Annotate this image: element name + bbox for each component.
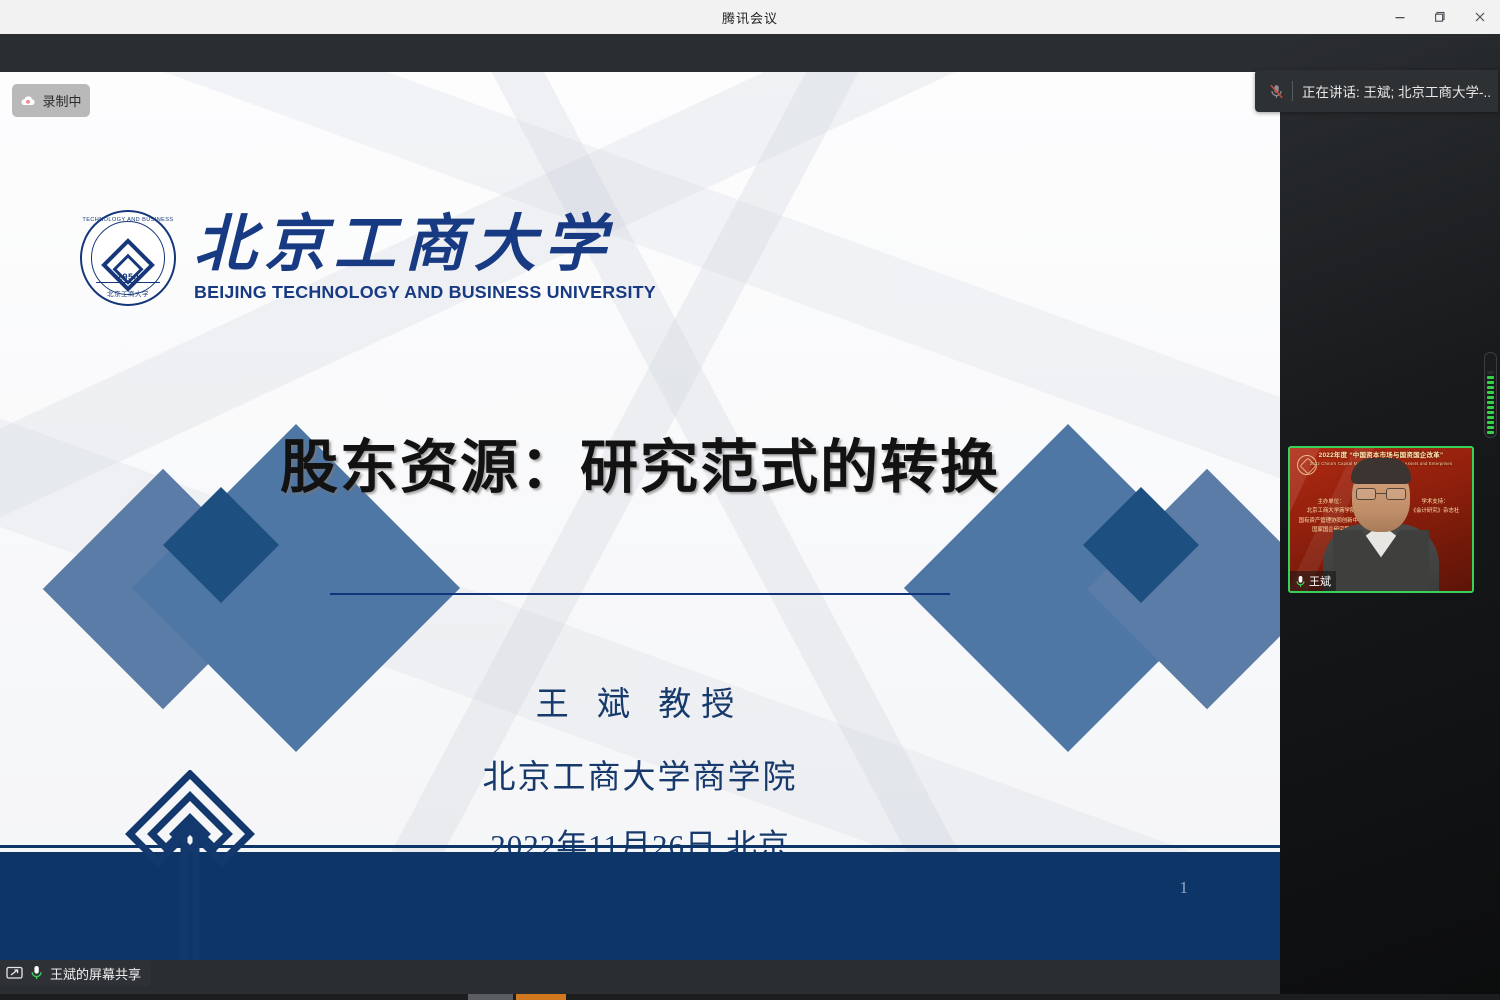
seal-cn-text: 北京工商大学 xyxy=(80,288,176,298)
participant-name-bar: 王斌 xyxy=(1290,571,1336,591)
participant-name: 王斌 xyxy=(1309,573,1331,589)
participant-video-tile[interactable]: 2022年度 “中国资本市场与国资国企改革” 2022 China's Capi… xyxy=(1288,446,1474,593)
close-icon[interactable] xyxy=(1460,0,1500,34)
minimize-icon[interactable] xyxy=(1380,0,1420,34)
slide-title: 股东资源：研究范式的转换 xyxy=(0,420,1280,504)
divider-line xyxy=(330,593,950,595)
seal-arc-text: TECHNOLOGY AND BUSINESS xyxy=(80,217,176,223)
microphone-muted-icon xyxy=(1263,78,1289,104)
pill-divider xyxy=(1292,81,1293,101)
microphone-on-icon xyxy=(1295,575,1306,588)
active-speaker-text: 正在讲话: 王斌; 北京工商大学-... xyxy=(1302,81,1490,101)
app-title: 腾讯会议 xyxy=(722,8,778,27)
active-speaker-banner[interactable]: 正在讲话: 王斌; 北京工商大学-... xyxy=(1255,70,1498,112)
recording-badge[interactable]: 录制中 xyxy=(12,84,90,117)
slide-page-number: 1 xyxy=(1180,878,1189,898)
participant-figure xyxy=(1322,458,1440,593)
screen-share-status-bar[interactable]: 王斌的屏幕共享 xyxy=(0,960,151,986)
logo-chinese-name: 北京工商大学 xyxy=(194,213,647,278)
university-logo: TECHNOLOGY AND BUSINESS 1950 北京工商大学 北京工商… xyxy=(80,210,647,306)
university-seal-icon: TECHNOLOGY AND BUSINESS 1950 北京工商大学 xyxy=(80,210,176,306)
audio-level-meter xyxy=(1484,352,1497,438)
meeting-window: 腾讯会议 xyxy=(0,0,1500,1000)
microphone-on-icon xyxy=(30,965,43,981)
meander-ornament-icon xyxy=(110,770,270,960)
screen-share-icon xyxy=(6,966,23,981)
cloud-icon xyxy=(20,95,36,107)
restore-icon[interactable] xyxy=(1420,0,1460,34)
seal-year: 1950 xyxy=(80,272,176,282)
taskbar-item[interactable] xyxy=(468,994,513,1000)
recording-label: 录制中 xyxy=(42,91,81,110)
window-title-bar: 腾讯会议 xyxy=(0,0,1500,34)
taskbar-strip xyxy=(0,994,1500,1000)
presenter-name: 王 斌 教授 xyxy=(0,677,1280,725)
shared-screen-slide[interactable]: TECHNOLOGY AND BUSINESS 1950 北京工商大学 北京工商… xyxy=(0,72,1280,960)
screen-share-label: 王斌的屏幕共享 xyxy=(50,964,141,983)
taskbar-item-active[interactable] xyxy=(516,994,566,1000)
window-controls xyxy=(1380,0,1500,34)
logo-english-name: BEIJING TECHNOLOGY AND BUSINESS UNIVERSI… xyxy=(194,282,656,303)
